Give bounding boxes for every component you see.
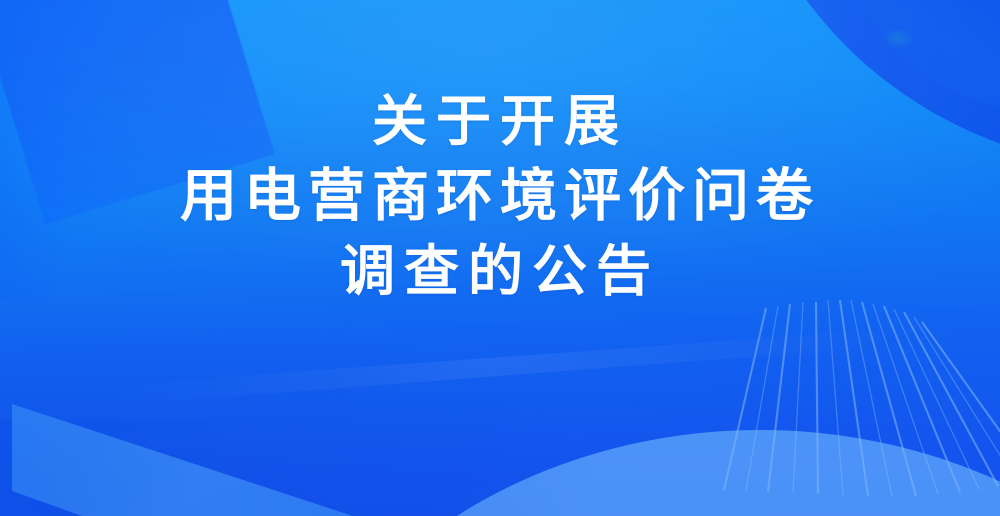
bottom-right-dome-shape xyxy=(260,430,1000,516)
announcement-banner: 关于开展 用电营商环境评价问卷 调查的公告 xyxy=(0,0,1000,516)
top-right-speck-shape xyxy=(881,28,915,48)
banner-title-line-1: 关于开展 xyxy=(0,84,1000,159)
banner-title-block: 关于开展 用电营商环境评价问卷 调查的公告 xyxy=(0,84,1000,309)
mid-diagonal-crease-shape xyxy=(120,330,880,500)
bottom-left-wedge-shape xyxy=(12,398,432,516)
bottom-left-shade-shape xyxy=(0,420,260,516)
banner-title-line-2: 用电营商环境评价问卷 xyxy=(0,159,1000,234)
banner-title-line-3: 调查的公告 xyxy=(0,234,1000,309)
radiating-rays-group xyxy=(640,300,1000,500)
